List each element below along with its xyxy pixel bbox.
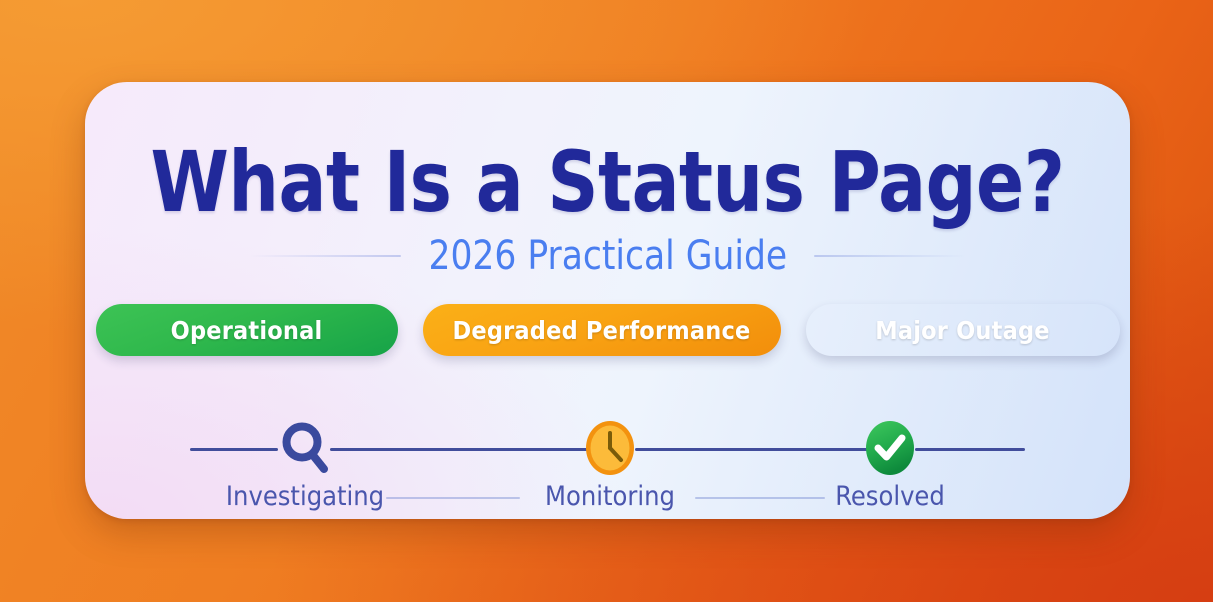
timeline-label-link-1: [386, 497, 520, 499]
timeline-node-resolved[interactable]: [858, 416, 922, 480]
poster-canvas: What Is a Status Page? 2026 Practical Gu…: [0, 0, 1213, 602]
status-pill-row: Operational Degraded Performance Major O…: [85, 304, 1130, 356]
timeline-segment-start: [190, 448, 278, 451]
magnifier-icon: [277, 419, 333, 477]
timeline-labels: Investigating Monitoring Resolved: [190, 482, 1025, 512]
timeline-node-monitoring[interactable]: [578, 416, 642, 480]
timeline-segment-end: [915, 448, 1025, 451]
timeline-segment-2: [635, 448, 885, 451]
page-title: What Is a Status Page?: [116, 140, 1098, 224]
timeline-segment-1: [330, 448, 605, 451]
subtitle-row: 2026 Practical Guide: [85, 234, 1130, 278]
timeline-label-link-2: [695, 497, 825, 499]
clock-icon: [584, 420, 636, 476]
incident-timeline: Investigating Monitoring Resolved: [190, 398, 1025, 498]
timeline-node-investigating[interactable]: [273, 416, 337, 480]
status-badge-operational[interactable]: Operational: [96, 304, 398, 356]
status-badge-degraded[interactable]: Degraded Performance: [423, 304, 781, 356]
subtitle-rule-right: [814, 255, 966, 257]
timeline-label-investigating: Investigating: [226, 482, 384, 512]
timeline-label-monitoring: Monitoring: [545, 482, 675, 512]
timeline-label-resolved: Resolved: [835, 482, 945, 512]
subtitle-rule-left: [249, 255, 401, 257]
check-circle-icon: [864, 420, 916, 476]
page-subtitle: 2026 Practical Guide: [428, 234, 787, 278]
status-badge-major-outage[interactable]: Major Outage: [806, 304, 1120, 356]
status-page-card: What Is a Status Page? 2026 Practical Gu…: [85, 82, 1130, 519]
